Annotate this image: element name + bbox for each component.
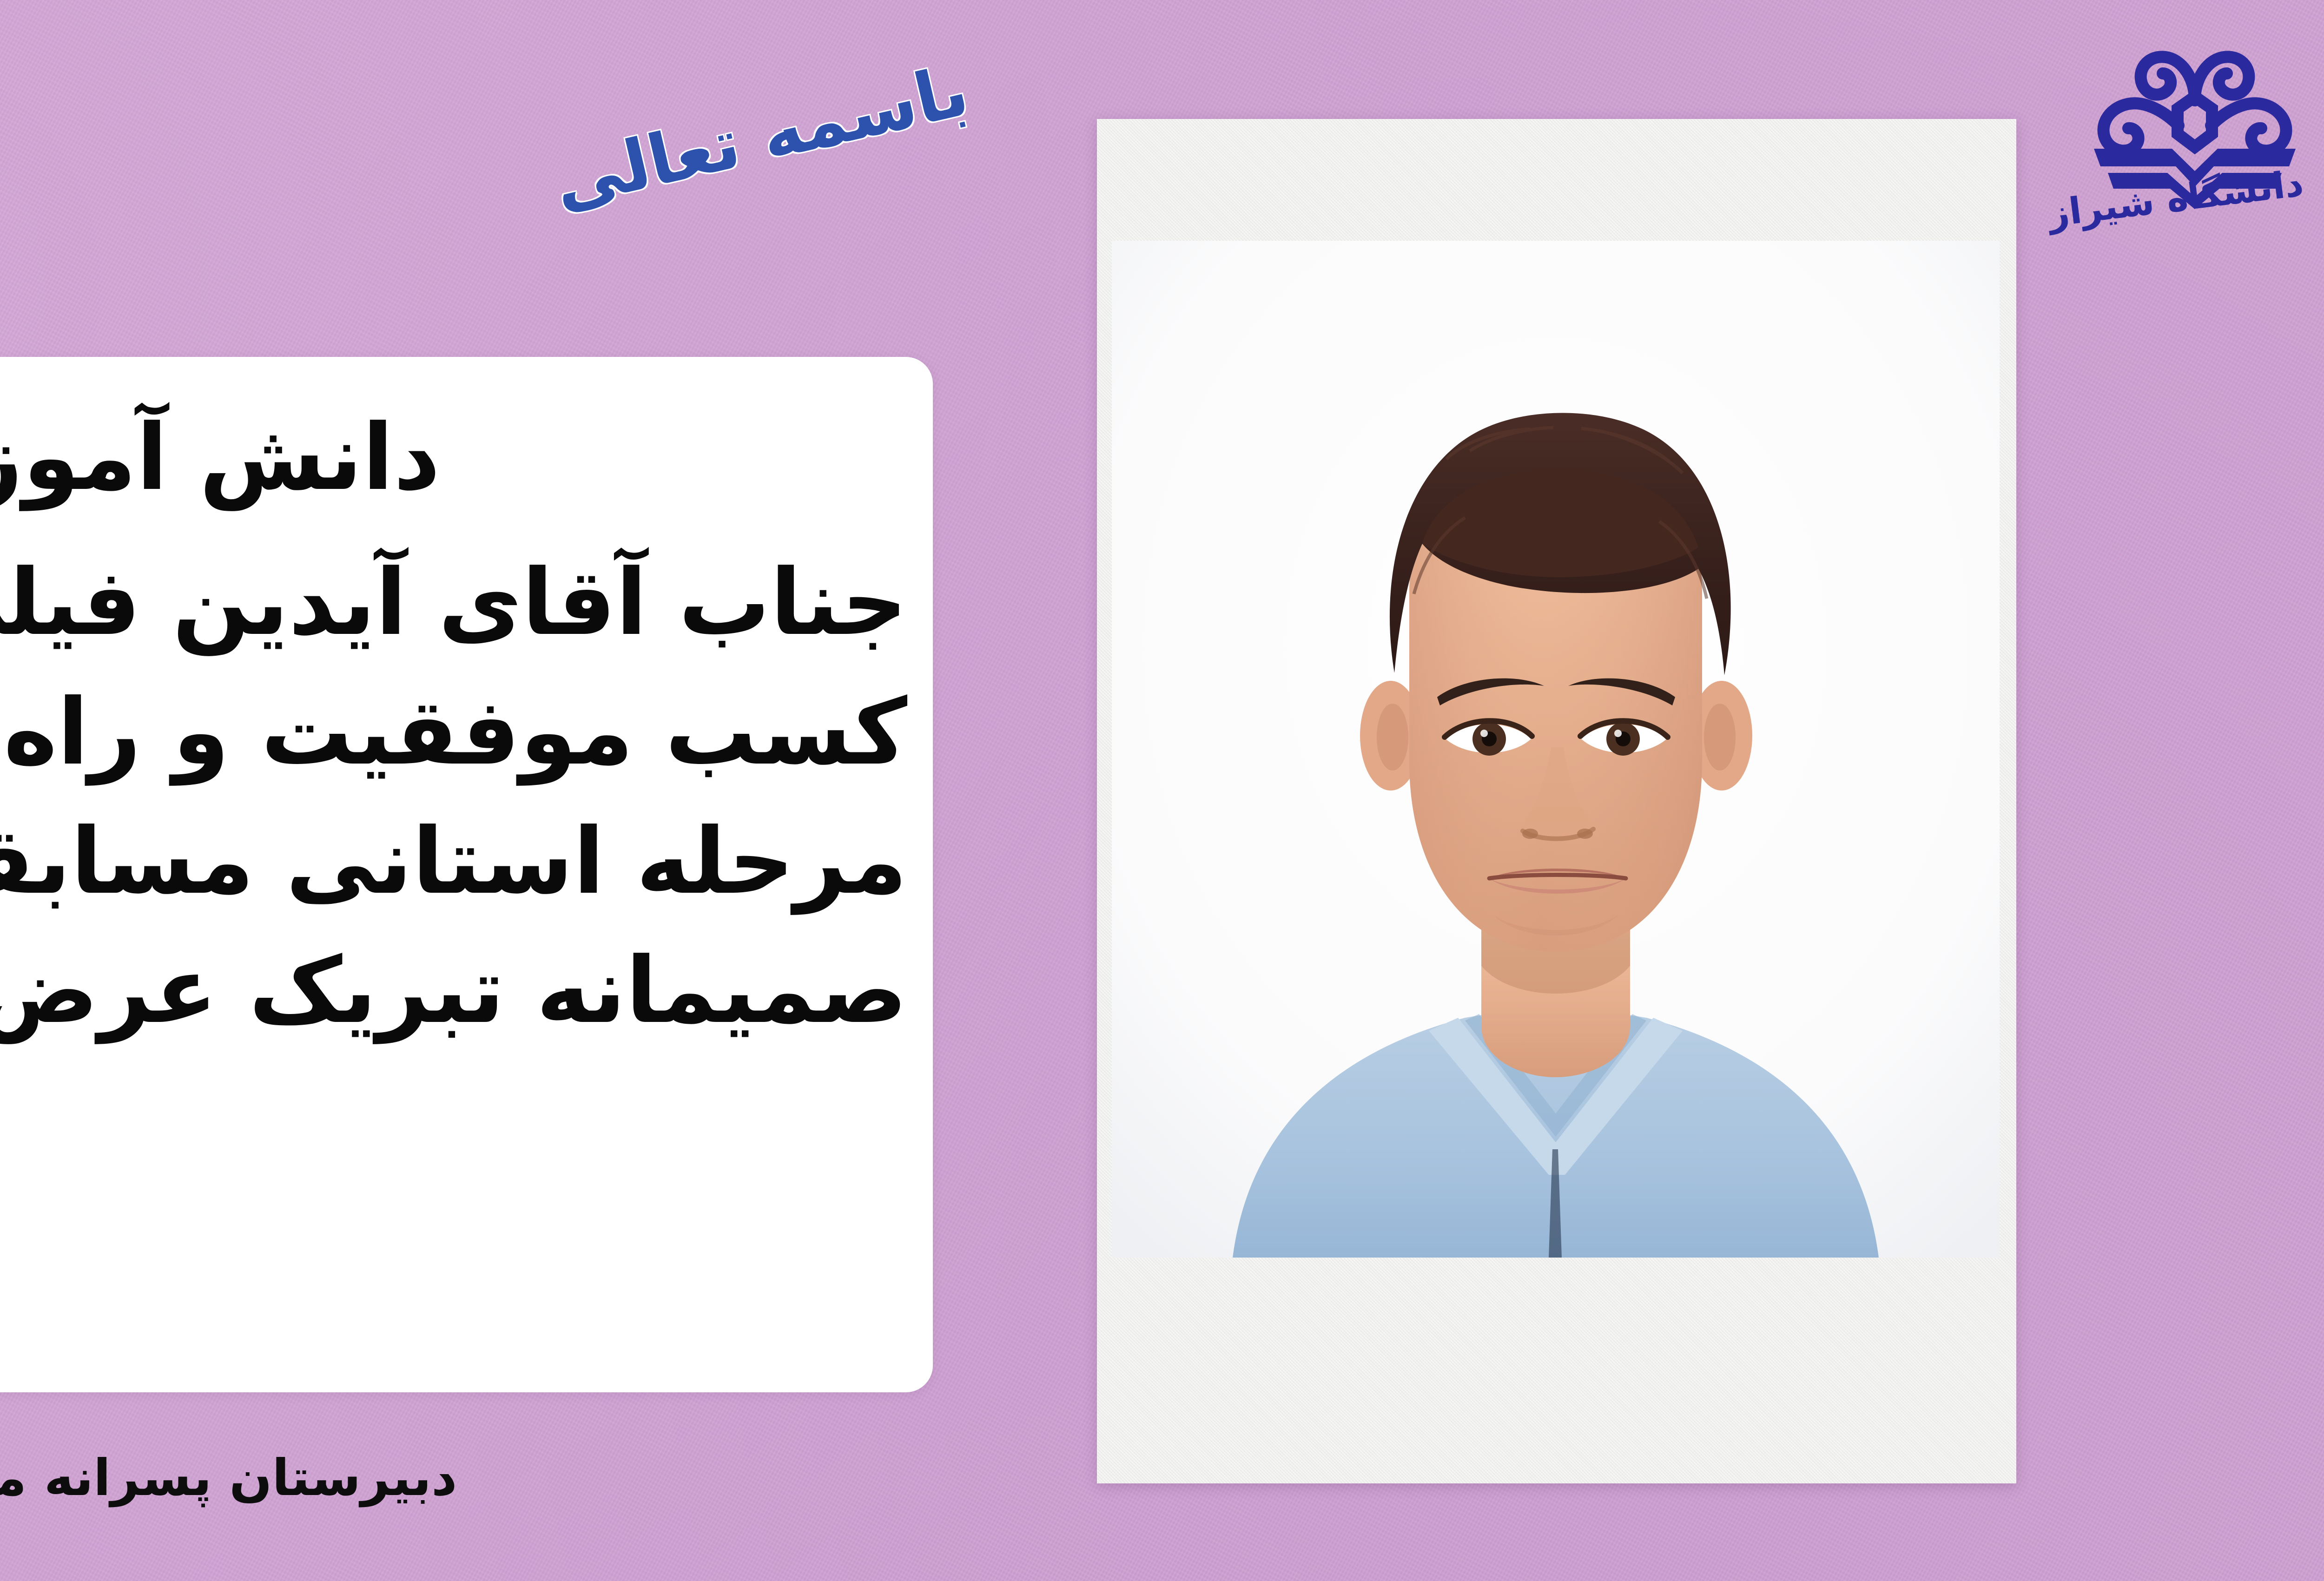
shiraz-university-logo: دانشگاه شیراز bbox=[2086, 9, 2304, 274]
footer-school-name: دبیرستان پسرانه متوسطه دوم دانشگاه شیراز bbox=[0, 1449, 626, 1507]
message-body-line-1: کسب موفقیت و راه یابی شایسته به bbox=[0, 668, 907, 797]
message-body-line-3: صمیمانه تبریک عرض می کنیم. bbox=[0, 926, 907, 1055]
message-salutation: دانش آموز عزیز bbox=[0, 393, 907, 522]
besmeh-taala-calligraphy: باسمه تعالی bbox=[524, 14, 998, 260]
besmeh-taala-text: باسمه تعالی bbox=[502, 0, 1019, 310]
message-card: دانش آموز عزیز جناب آقای آیدین فیلی زاده… bbox=[0, 357, 933, 1392]
photo-frame bbox=[1097, 119, 2016, 1483]
message-text-block: دانش آموز عزیز جناب آقای آیدین فیلی زاده… bbox=[0, 393, 907, 1056]
banner-canvas: مجتمع دانشگاه مجتمع آموزشی فرهنگی غیر دو… bbox=[0, 0, 2324, 1581]
portrait-photo bbox=[1112, 241, 2000, 1258]
message-body-line-2: مرحله استانی مسابقات شطرنج را bbox=[0, 797, 907, 926]
message-honoree: جناب آقای آیدین فیلی زاده bbox=[0, 538, 907, 667]
